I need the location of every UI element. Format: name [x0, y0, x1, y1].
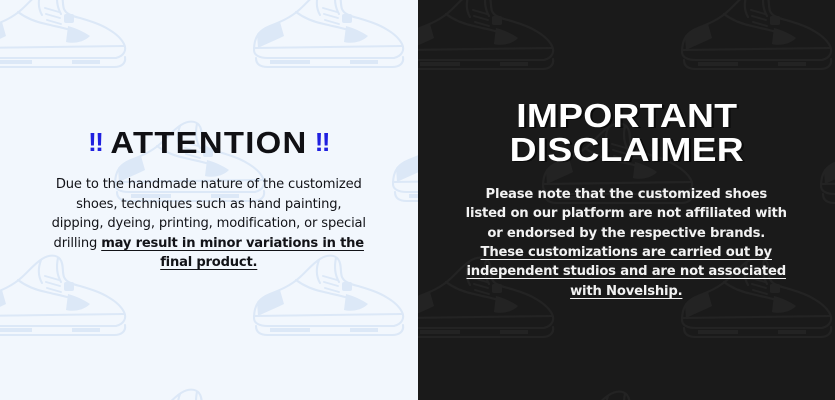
attention-body-emphasis: may result in minor variations in the fi… — [101, 236, 364, 271]
attention-heading: ‼ ATTENTION ‼ — [20, 127, 398, 158]
disclaimer-title: IMPORTANT DISCLAIMER — [418, 99, 835, 167]
attention-body: Due to the handmade nature of the custom… — [49, 175, 369, 273]
attention-title: ATTENTION — [110, 127, 307, 158]
disclaimer-title-line2: DISCLAIMER — [418, 133, 835, 167]
disclaimer-body-emphasis: These customizations are carried out by … — [466, 245, 786, 299]
disclaimer-body-normal: Please note that the customized shoes li… — [466, 187, 787, 241]
disclaimer-content: IMPORTANT DISCLAIMER Please note that th… — [418, 99, 835, 301]
double-exclamation-icon: ‼ — [315, 129, 330, 155]
attention-content: ‼ ATTENTION ‼ Due to the handmade nature… — [0, 127, 418, 273]
disclaimer-title-line1: IMPORTANT — [418, 99, 835, 133]
disclaimer-panel: IMPORTANT DISCLAIMER Please note that th… — [418, 0, 835, 400]
double-exclamation-icon: ‼ — [88, 129, 103, 155]
attention-panel: ‼ ATTENTION ‼ Due to the handmade nature… — [0, 0, 418, 400]
disclaimer-body: Please note that the customized shoes li… — [465, 185, 787, 301]
